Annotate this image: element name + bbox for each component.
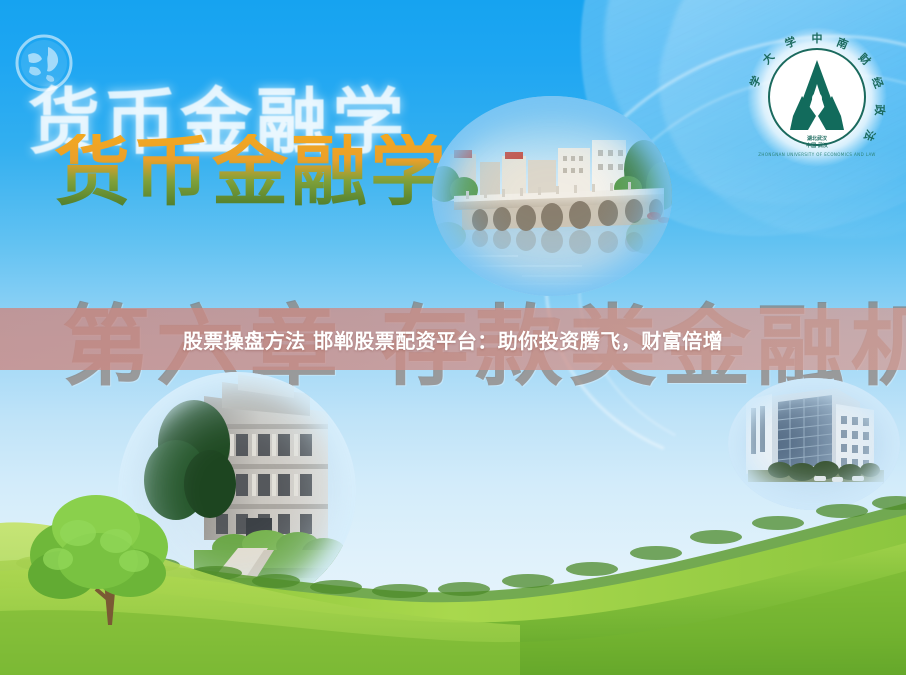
- svg-text:中: 中: [812, 31, 823, 45]
- emblem-subtext-latin: ZHONGNAN UNIVERSITY OF ECONOMICS AND LAW: [758, 152, 875, 157]
- emblem-subtext-line2: 中国 武汉: [806, 142, 829, 149]
- promo-banner-canvas: 货币金融学 货币金融学 第六章 存款类金融机构: [0, 0, 906, 675]
- book-title-ghost: 货币金融学: [28, 86, 408, 158]
- book-title-solid: 货币金融学: [54, 134, 449, 210]
- globe-icon: [14, 33, 74, 93]
- photo-arch-bridge: [432, 96, 672, 296]
- photo-campus-building: [118, 372, 356, 610]
- book-title-group: 货币金融学 货币金融学: [0, 86, 380, 256]
- emblem-subtext-line1: 湖北武汉: [807, 135, 828, 142]
- headline-banner: 股票操盘方法 邯郸股票配资平台：助你投资腾飞，财富倍增: [0, 308, 906, 370]
- headline-text: 股票操盘方法 邯郸股票配资平台：助你投资腾飞，财富倍增: [183, 325, 723, 354]
- university-emblem-icon: 中 南 财 经 政 法 学 大 学 湖北武汉 中国 武汉 ZHONGNAN UN…: [746, 26, 888, 168]
- photo-office-building: [728, 378, 900, 510]
- svg-text:政: 政: [873, 105, 887, 117]
